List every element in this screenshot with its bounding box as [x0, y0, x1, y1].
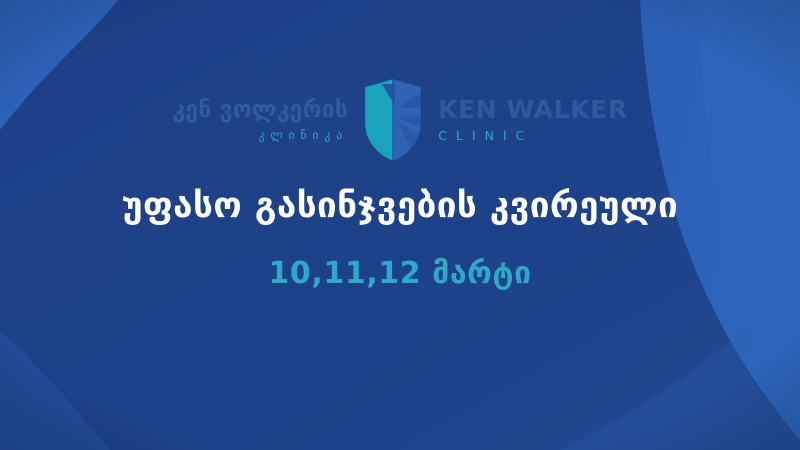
logo-georgian-name: კენ ვოლკერის: [172, 98, 348, 122]
shield-k-emblem-icon: [362, 78, 424, 162]
logo-text-latin: KEN WALKER CLINIC: [424, 97, 628, 143]
logo-latin-name: KEN WALKER: [438, 97, 628, 123]
logo-georgian-subtitle: კლინიკა: [258, 128, 348, 142]
logo-text-georgian: კენ ვოლკერის კლინიკა: [172, 98, 362, 141]
promo-headline: უფასო გასინჯვების კვირეული: [0, 186, 800, 227]
promo-date: 10,11,12 მარტი: [0, 256, 800, 292]
clinic-logo-lockup: კენ ვოლკერის კლინიკა: [0, 78, 800, 162]
promo-banner: კენ ვოლკერის კლინიკა: [0, 0, 800, 450]
shield-k-emblem-svg: [362, 78, 424, 162]
logo-latin-subtitle: CLINIC: [438, 128, 533, 143]
shield-center-divider: [392, 78, 394, 162]
banner-content: კენ ვოლკერის კლინიკა: [0, 0, 800, 450]
